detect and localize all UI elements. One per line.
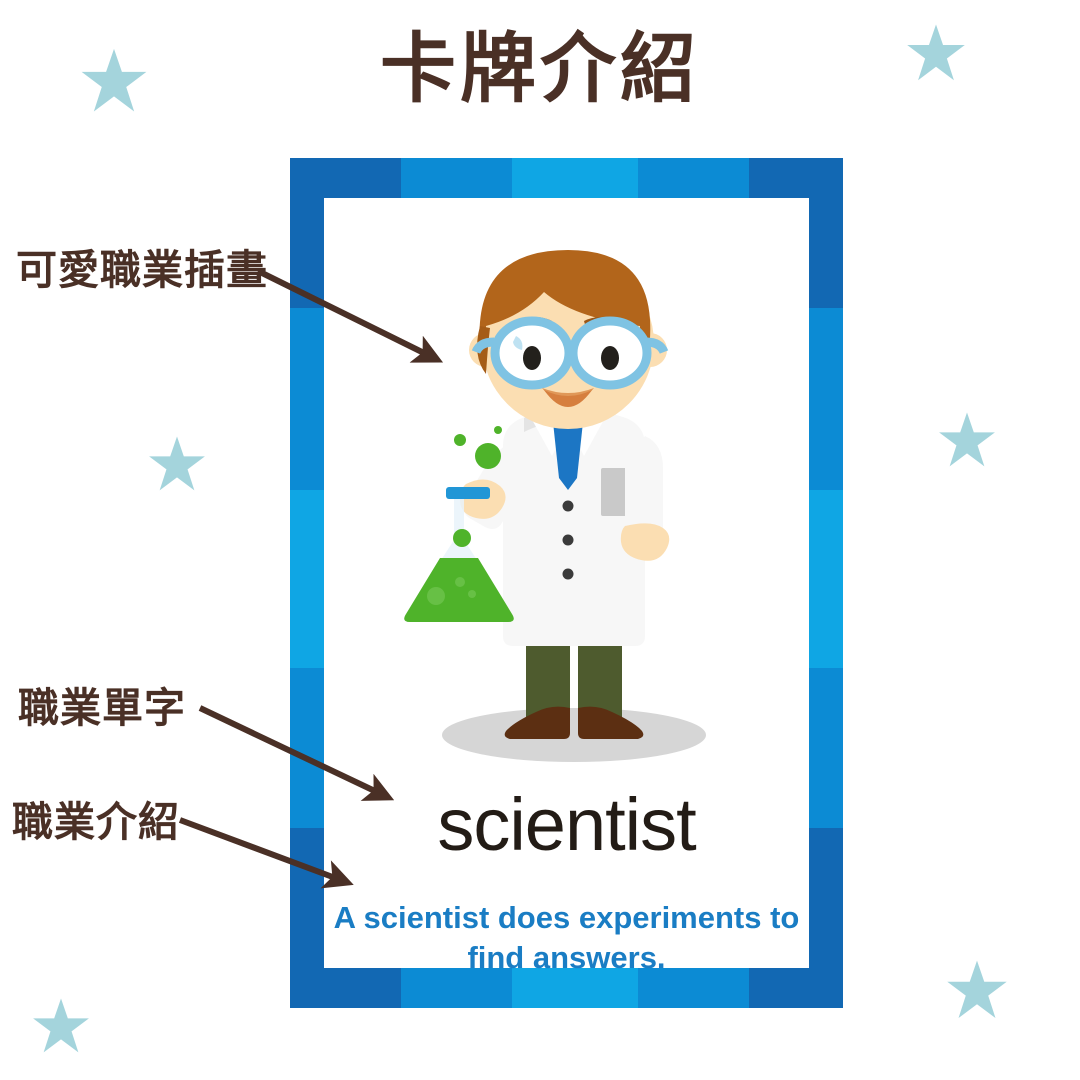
scientist-illustration	[374, 238, 764, 778]
card-border-right-5	[809, 828, 843, 1008]
ground-shadow	[442, 708, 706, 762]
eye-left	[523, 346, 541, 370]
annotation-label-illustration: 可愛職業插畫	[16, 250, 268, 291]
star-bottom-left-icon	[30, 996, 92, 1058]
poster-canvas: 卡牌介紹 可愛職業插畫 職業單字 職業介紹	[0, 0, 1080, 1080]
card-border-top-2	[401, 158, 512, 198]
flask-liquid	[404, 558, 514, 622]
page-title: 卡牌介紹	[0, 28, 1080, 112]
card-border-top-3	[512, 158, 638, 198]
flask-bubble-liquid-2	[455, 577, 465, 587]
star-mid-left-icon	[146, 434, 208, 496]
flask-bubble-liquid-3	[468, 590, 476, 598]
card-border-top-4	[638, 158, 749, 198]
coat-button	[563, 569, 574, 580]
goggle-bridge	[566, 346, 576, 349]
vocabulary-description: A scientist does experiments to find ans…	[332, 898, 801, 977]
flask-bubble-out-3	[494, 426, 502, 434]
card-border-left-3	[290, 490, 324, 668]
flask-neck-rim	[446, 487, 490, 499]
coat-button	[563, 535, 574, 546]
card-border-right-4	[809, 668, 843, 828]
flashcard: scientist A scientist does experiments t…	[290, 158, 843, 1008]
vocabulary-word: scientist	[324, 788, 809, 862]
card-border-left-2	[290, 308, 324, 490]
star-mid-right-icon	[936, 410, 998, 472]
card-border-left-1	[290, 158, 324, 308]
flask-bubble-out-2	[454, 434, 466, 446]
annotation-label-word: 職業單字	[18, 688, 186, 729]
coat-button	[563, 501, 574, 512]
eye-right	[601, 346, 619, 370]
card-border-right-3	[809, 490, 843, 668]
card-border-left-5	[290, 828, 324, 1008]
card-border-right-1	[809, 158, 843, 308]
card-inner-surface: scientist A scientist does experiments t…	[324, 198, 809, 968]
card-border-left-4	[290, 668, 324, 828]
flask-bubble-liquid-1	[427, 587, 445, 605]
star-bottom-right-icon	[944, 958, 1010, 1024]
card-border-right-2	[809, 308, 843, 490]
annotation-label-description: 職業介紹	[12, 802, 180, 843]
flask-bubble-in	[453, 529, 471, 547]
flask-bubble-out-1	[475, 443, 501, 469]
